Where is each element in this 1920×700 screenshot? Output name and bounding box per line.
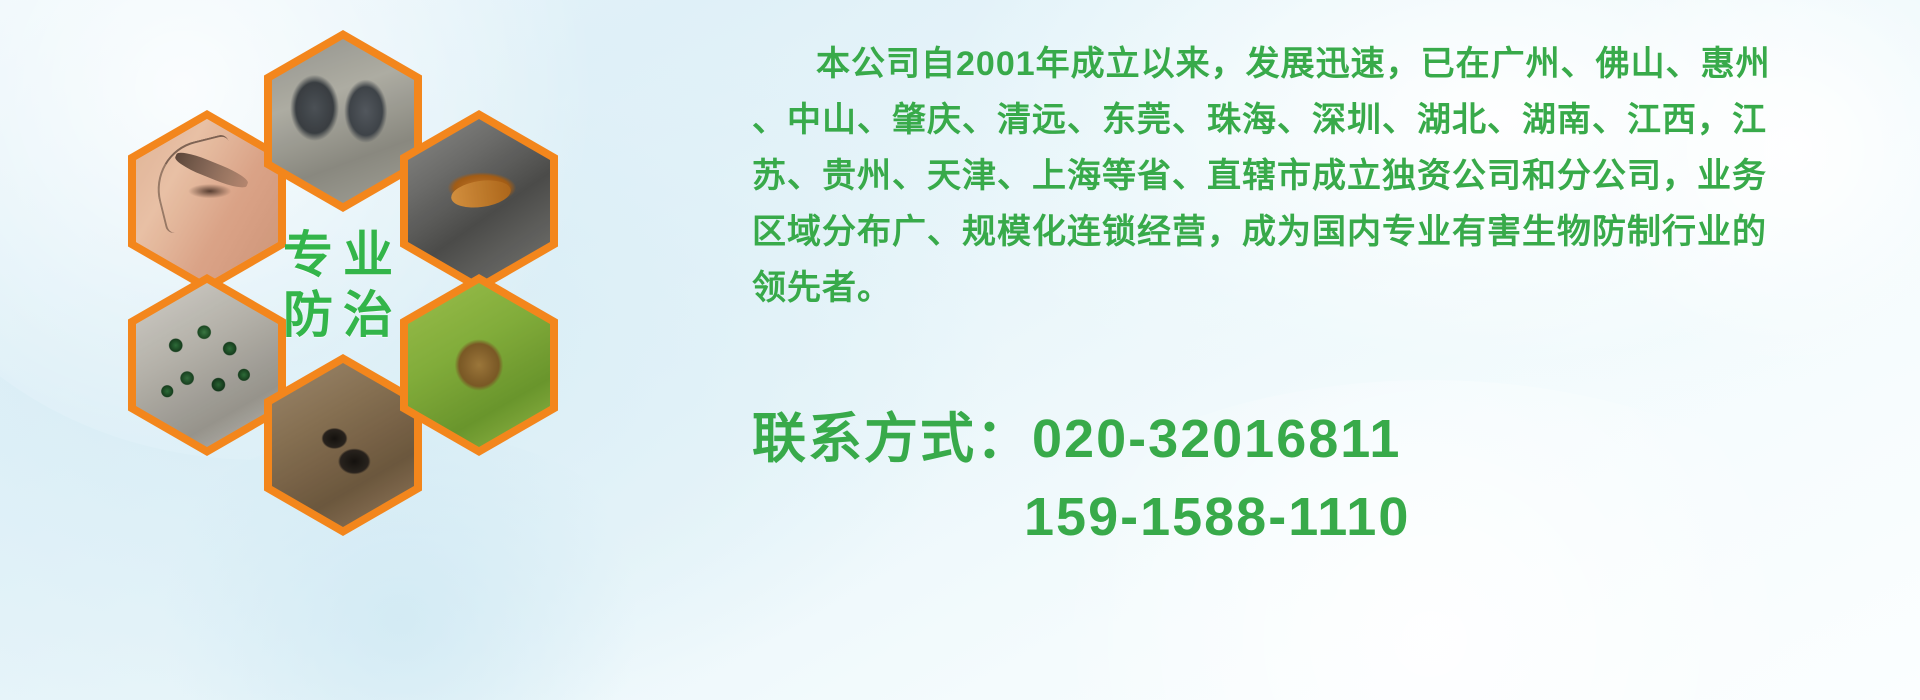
honeycomb-center-label: 专业 防治 — [264, 194, 422, 376]
promotional-banner: 专业 防治 本公司自2001年成立以来，发展迅速，已在广州、佛山、惠州 、中山、… — [0, 0, 1920, 700]
hex-photo-stink-bug — [408, 283, 550, 447]
company-intro-paragraph: 本公司自2001年成立以来，发展迅速，已在广州、佛山、惠州 、中山、肇庆、清远、… — [752, 36, 1872, 316]
hex-photo-rats — [272, 39, 414, 203]
intro-line-5: 领先者。 — [752, 260, 1872, 316]
contact-line-primary[interactable]: 联系方式：020-32016811 — [752, 400, 1892, 478]
hex-cell-rats — [264, 30, 422, 212]
hex-cell-stink-bug — [400, 274, 558, 456]
honeycomb-photo-cluster: 专业 防治 — [88, 10, 588, 570]
hex-cell-flies — [128, 274, 286, 456]
hex-photo-mosquito — [136, 119, 278, 283]
honeycomb-label-line-1: 专业 — [283, 230, 403, 280]
hex-cell-ant — [264, 354, 422, 536]
intro-line-1: 本公司自2001年成立以来，发展迅速，已在广州、佛山、惠州 — [752, 36, 1872, 92]
intro-line-2: 、中山、肇庆、清远、东莞、珠海、深圳、湖北、湖南、江西，江 — [752, 92, 1872, 148]
intro-line-4: 区域分布广、规模化连锁经营，成为国内专业有害生物防制行业的 — [752, 204, 1872, 260]
contact-line-secondary[interactable]: 159-1588-1110 — [752, 478, 1892, 556]
contact-block: 联系方式：020-32016811 159-1588-1110 — [752, 400, 1892, 556]
hex-photo-flies — [136, 283, 278, 447]
honeycomb-label-line-2: 防治 — [283, 290, 403, 340]
company-intro-block: 本公司自2001年成立以来，发展迅速，已在广州、佛山、惠州 、中山、肇庆、清远、… — [752, 36, 1872, 316]
hex-photo-cockroach — [408, 119, 550, 283]
hex-cell-mosquito — [128, 110, 286, 292]
intro-line-3: 苏、贵州、天津、上海等省、直辖市成立独资公司和分公司，业务 — [752, 148, 1872, 204]
hex-cell-cockroach — [400, 110, 558, 292]
hex-photo-ant — [272, 363, 414, 527]
